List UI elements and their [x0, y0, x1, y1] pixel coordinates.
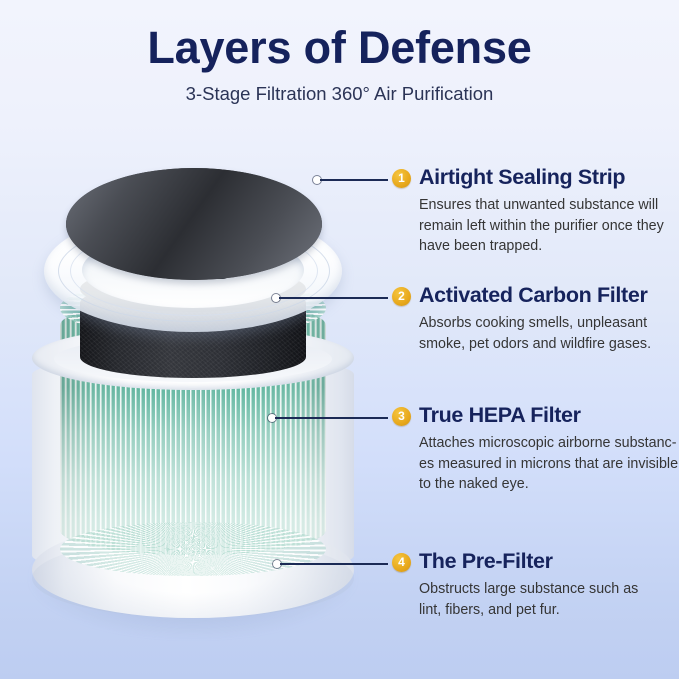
callout-body-4: Obstructs large substance such as lint, … [419, 579, 660, 620]
callout-the-pre-filter: 4 The Pre-Filter Obstructs large substan… [392, 549, 660, 620]
callout-true-hepa-filter: 3 True HEPA Filter Attaches microscopic … [392, 403, 660, 495]
callout-body-1: Ensures that unwanted substance will rem… [419, 195, 660, 257]
callout-badge-4: 4 [392, 553, 411, 572]
infographic-canvas: Layers of Defense 3-Stage Filtration 360… [0, 0, 679, 679]
callout-body-line: es measured in microns that are invisibl… [419, 454, 660, 475]
callout-badge-3: 3 [392, 407, 411, 426]
callout-body-line: have been trapped. [419, 236, 660, 257]
callout-body-line: Attaches microscopic airborne substanc- [419, 433, 660, 454]
callout-badge-2: 2 [392, 287, 411, 306]
page-subtitle: 3-Stage Filtration 360° Air Purification [0, 83, 679, 105]
callout-body-line: Ensures that unwanted substance will [419, 195, 660, 216]
callout-body-2: Absorbs cooking smells, unpleasant smoke… [419, 313, 660, 354]
page-title: Layers of Defense [0, 24, 679, 72]
callout-title-2: Activated Carbon Filter [419, 283, 648, 308]
callout-body-line: Absorbs cooking smells, unpleasant [419, 313, 660, 334]
callout-body-3: Attaches microscopic airborne substanc- … [419, 433, 660, 495]
product-illustration [18, 150, 368, 640]
callout-title-3: True HEPA Filter [419, 403, 581, 428]
header: Layers of Defense 3-Stage Filtration 360… [0, 24, 679, 105]
callout-activated-carbon-filter: 2 Activated Carbon Filter Absorbs cookin… [392, 283, 660, 354]
leader-line-3 [275, 417, 388, 419]
callout-body-line: remain left within the purifier once the… [419, 216, 660, 237]
hepa-filter-bottom-edge [60, 522, 326, 576]
airtight-sealing-ring-highlight [66, 168, 322, 280]
leader-line-2 [279, 297, 388, 299]
callout-title-4: The Pre-Filter [419, 549, 553, 574]
callout-body-line: to the naked eye. [419, 474, 660, 495]
callout-badge-1: 1 [392, 169, 411, 188]
callout-body-line: smoke, pet odors and wildfire gases. [419, 334, 660, 355]
leader-line-1 [320, 179, 388, 181]
callout-airtight-sealing-strip: 1 Airtight Sealing Strip Ensures that un… [392, 165, 660, 257]
callout-body-line: Obstructs large substance such as [419, 579, 660, 600]
callout-body-line: lint, fibers, and pet fur. [419, 600, 660, 621]
leader-line-4 [280, 563, 388, 565]
callout-title-1: Airtight Sealing Strip [419, 165, 625, 190]
